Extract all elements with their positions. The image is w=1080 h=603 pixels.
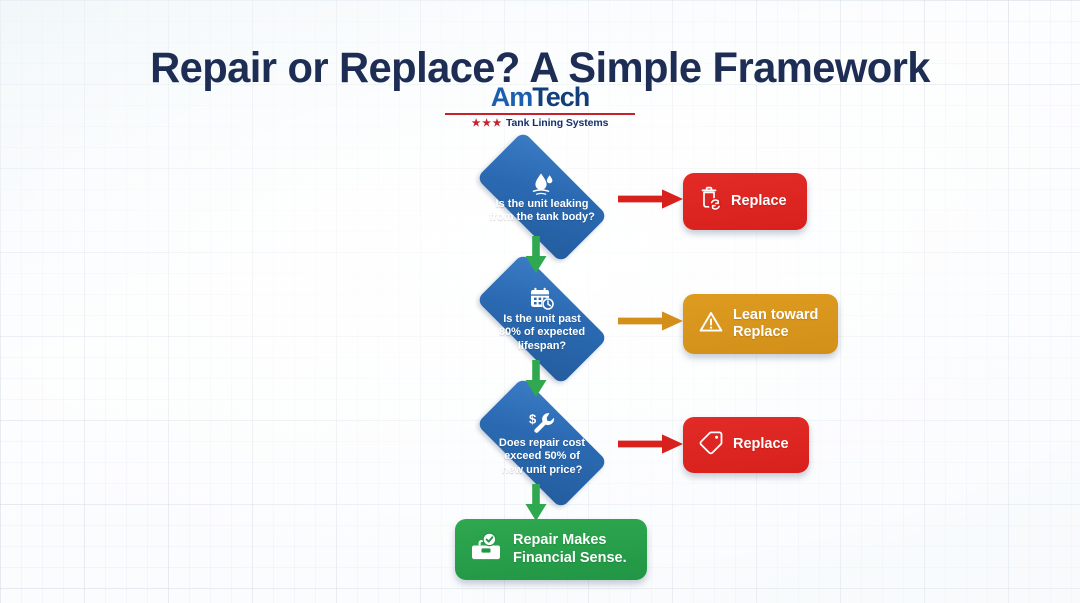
decision-node-leaking[interactable]: Is the unit leakingfrom the tank body? (457, 150, 627, 244)
decision-line-1: Does repair cost (499, 437, 585, 449)
decision-label-leaking: Is the unit leakingfrom the tank body? (476, 198, 608, 225)
trash-recycle-icon (698, 186, 722, 217)
dollar-wrench-icon: $ (527, 411, 557, 435)
outcome-lean-toward-replace[interactable]: Lean toward Replace (683, 294, 838, 354)
connector-arrow-to-repair-outcome (524, 484, 548, 527)
decision-line-2: 80% of expected (499, 326, 585, 338)
connector-arrow-to-lean-replace (618, 310, 684, 337)
outcome-label: Replace (731, 193, 787, 210)
decision-line-1: Is the unit leaking (496, 198, 589, 210)
decision-node-repair-cost[interactable]: $ Does repair costexceed 50% ofnew unit … (457, 396, 627, 490)
outcome-replace-cost[interactable]: Replace (683, 417, 809, 473)
decision-line-3: new unit price? (502, 464, 583, 476)
outcome-replace-leaking[interactable]: Replace (683, 173, 807, 230)
decision-line-3: lifespan? (518, 340, 566, 352)
outcome-repair-makes-sense[interactable]: Repair Makes Financial Sense. (455, 519, 647, 580)
connector-arrow-to-replace-leaking (618, 188, 684, 215)
decision-label-repair-cost: Does repair costexceed 50% ofnew unit pr… (476, 437, 608, 477)
calendar-clock-icon (529, 287, 555, 311)
decision-line-2: from the tank body? (489, 211, 595, 223)
decision-line-2: exceed 50% of (504, 450, 580, 462)
warning-triangle-icon (698, 310, 724, 339)
decision-line-1: Is the unit past (503, 313, 581, 325)
decision-node-lifespan[interactable]: Is the unit past80% of expectedlifespan? (457, 272, 627, 366)
outcome-label: Lean toward Replace (733, 307, 818, 341)
toolbox-check-icon (470, 532, 504, 567)
price-tag-icon (698, 430, 724, 460)
water-drop-icon (528, 172, 556, 196)
connector-arrow-to-replace-cost (618, 433, 684, 460)
outcome-label: Replace (733, 436, 789, 453)
flowchart-canvas: Is the unit leakingfrom the tank body? (0, 0, 1080, 603)
decision-label-lifespan: Is the unit past80% of expectedlifespan? (476, 313, 608, 353)
outcome-label: Repair Makes Financial Sense. (513, 532, 627, 566)
svg-text:$: $ (529, 411, 537, 426)
